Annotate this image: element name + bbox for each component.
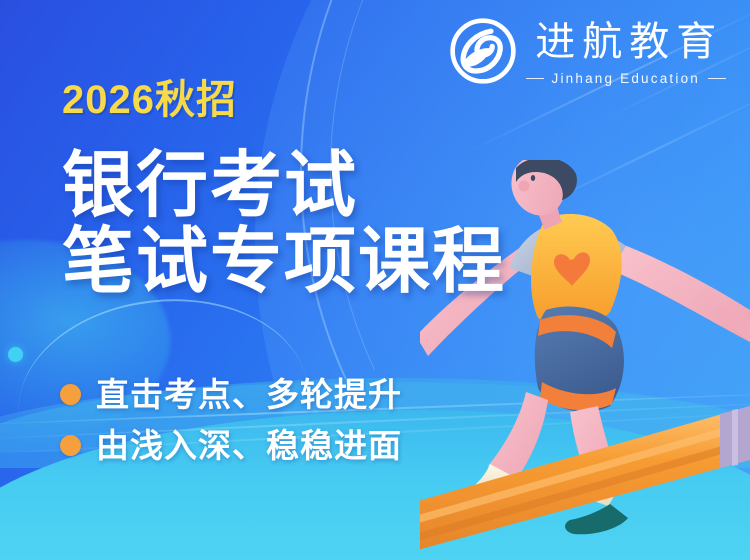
- character-right-shoe: [565, 504, 628, 534]
- bullet-text: 由浅入深、稳稳进面: [96, 429, 402, 462]
- bullet-dot-icon: [60, 384, 81, 405]
- eyebrow-label: 2026秋招: [62, 80, 506, 120]
- logo-dash-right: [708, 78, 726, 80]
- logo-tagline-row: Jinhang Education: [526, 71, 727, 86]
- headline-line-2: 笔试专项课程: [62, 224, 506, 300]
- brand-logo[interactable]: 进航教育 Jinhang Education: [450, 18, 727, 86]
- cyan-dot-decoration: [8, 347, 23, 362]
- character-blush: [519, 181, 530, 192]
- jinhang-swirl-mark-icon: [450, 18, 516, 84]
- list-item: 由浅入深、稳稳进面: [60, 429, 402, 462]
- logo-name-cn: 进航教育: [528, 22, 723, 62]
- promo-banner: 进航教育 Jinhang Education 2026秋招 银行考试 笔试专项课…: [0, 0, 750, 560]
- feature-bullet-list: 直击考点、多轮提升 由浅入深、稳稳进面: [60, 378, 402, 480]
- logo-name-en: Jinhang Education: [552, 71, 701, 86]
- headline-line-1: 银行考试: [62, 148, 506, 224]
- bullet-text: 直击考点、多轮提升: [96, 378, 402, 411]
- bullet-dot-icon: [60, 435, 81, 456]
- list-item: 直击考点、多轮提升: [60, 378, 402, 411]
- headline-block: 2026秋招 银行考试 笔试专项课程: [62, 80, 506, 301]
- character-right-arm: [610, 242, 750, 342]
- character-eye: [531, 175, 535, 181]
- logo-dash-left: [526, 78, 544, 80]
